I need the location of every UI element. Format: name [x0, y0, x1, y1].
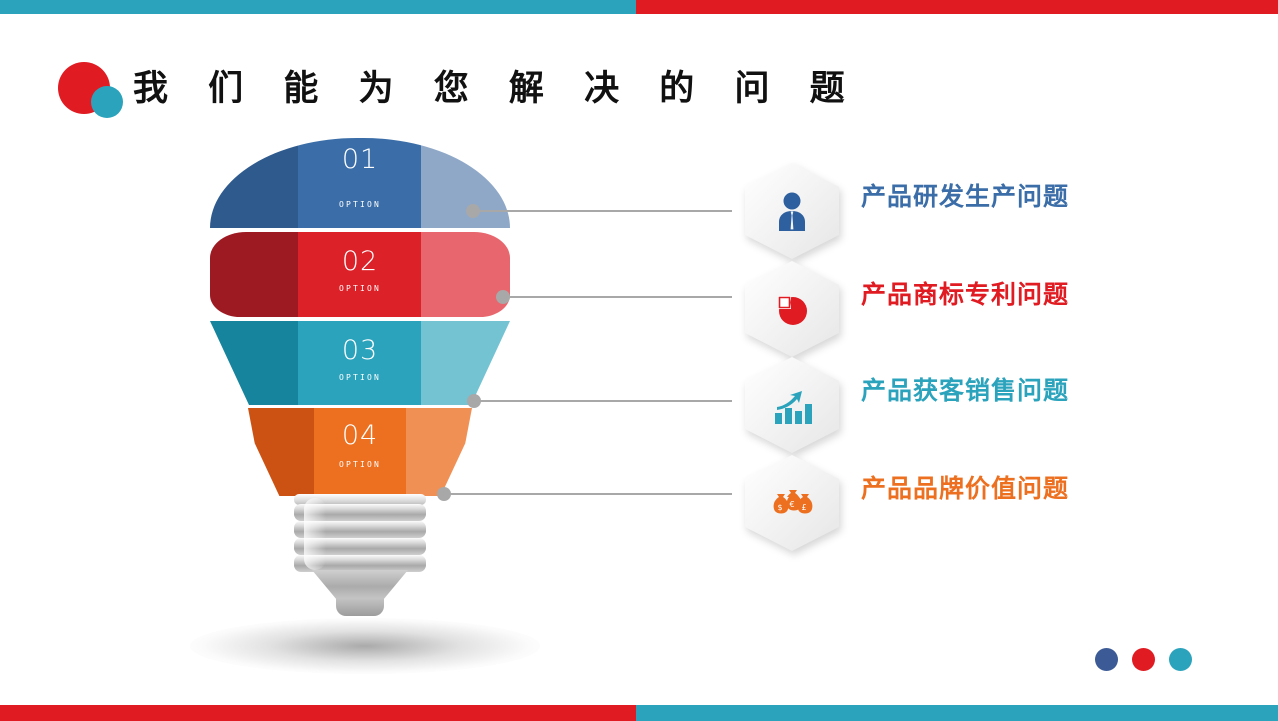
problem-item-3[interactable]: 产品获客销售问题 [745, 357, 1175, 453]
connector-stroke [479, 400, 732, 402]
page-title: 我 们 能 为 您 解 决 的 问 题 [133, 63, 859, 115]
bulb-drop-shadow [190, 618, 540, 674]
problem-label-2: 产品商标专利问题 [861, 275, 1069, 311]
footer-dot-2[interactable] [1132, 648, 1155, 671]
problem-item-4[interactable]: $ € £ 产品品牌价值问题 [745, 455, 1175, 551]
screw-thread [294, 538, 426, 555]
hexagon-badge [745, 357, 839, 453]
segment-option-label: OPTION [248, 460, 472, 469]
hexagon-badge [745, 163, 839, 259]
segment-option-label: OPTION [210, 373, 510, 382]
bulb-screw-base [294, 494, 426, 604]
top-bar-teal-segment [0, 0, 636, 14]
svg-text:$: $ [777, 503, 782, 512]
screw-thread [294, 555, 426, 572]
footer-dot-3[interactable] [1169, 648, 1192, 671]
footer-dot-group [1095, 648, 1192, 671]
segment-number: 02 [210, 246, 510, 277]
top-accent-bar [0, 0, 1278, 14]
screw-thread [294, 521, 426, 538]
pie-chart-icon [769, 287, 815, 331]
slide-canvas: 我 们 能 为 您 解 决 的 问 题 01 OPTION 02 OPTION … [0, 0, 1278, 721]
bottom-bar-red-segment [0, 705, 636, 721]
problem-label-1: 产品研发生产问题 [861, 177, 1069, 213]
bar-chart-growth-icon [769, 383, 815, 427]
screw-contact-tip [336, 598, 384, 616]
segment-number: 03 [210, 335, 510, 366]
segment-option-label: OPTION [210, 200, 510, 209]
segment-number: 04 [248, 420, 472, 451]
hexagon-badge [745, 261, 839, 357]
bulb-segment-01[interactable]: 01 OPTION [210, 138, 510, 228]
connector-stroke [508, 296, 732, 298]
segment-option-label: OPTION [210, 284, 510, 293]
bulb-segment-03[interactable]: 03 OPTION [210, 321, 510, 405]
person-icon [769, 189, 815, 233]
lightbulb-infographic: 01 OPTION 02 OPTION 03 OPTION 04 OPTION [210, 138, 510, 618]
screw-taper [312, 570, 408, 600]
money-bags-icon: $ € £ [769, 481, 815, 525]
bottom-accent-bar [0, 705, 1278, 721]
problem-item-1[interactable]: 产品研发生产问题 [745, 163, 1175, 259]
svg-text:£: £ [801, 503, 806, 512]
bulb-segment-02[interactable]: 02 OPTION [210, 232, 510, 317]
problem-label-3: 产品获客销售问题 [861, 371, 1069, 407]
hexagon-badge: $ € £ [745, 455, 839, 551]
footer-dot-1[interactable] [1095, 648, 1118, 671]
bottom-bar-teal-segment [636, 705, 1278, 721]
logo-teal-circle [91, 86, 123, 118]
problem-item-2[interactable]: 产品商标专利问题 [745, 261, 1175, 357]
svg-text:€: € [789, 500, 794, 509]
top-bar-red-segment [636, 0, 1278, 14]
segment-number: 01 [210, 144, 510, 175]
screw-thread [294, 504, 426, 521]
connector-stroke [449, 493, 732, 495]
bulb-segment-04[interactable]: 04 OPTION [248, 408, 472, 496]
logo-mark [58, 62, 128, 120]
problem-label-4: 产品品牌价值问题 [861, 469, 1069, 505]
connector-stroke [478, 210, 732, 212]
